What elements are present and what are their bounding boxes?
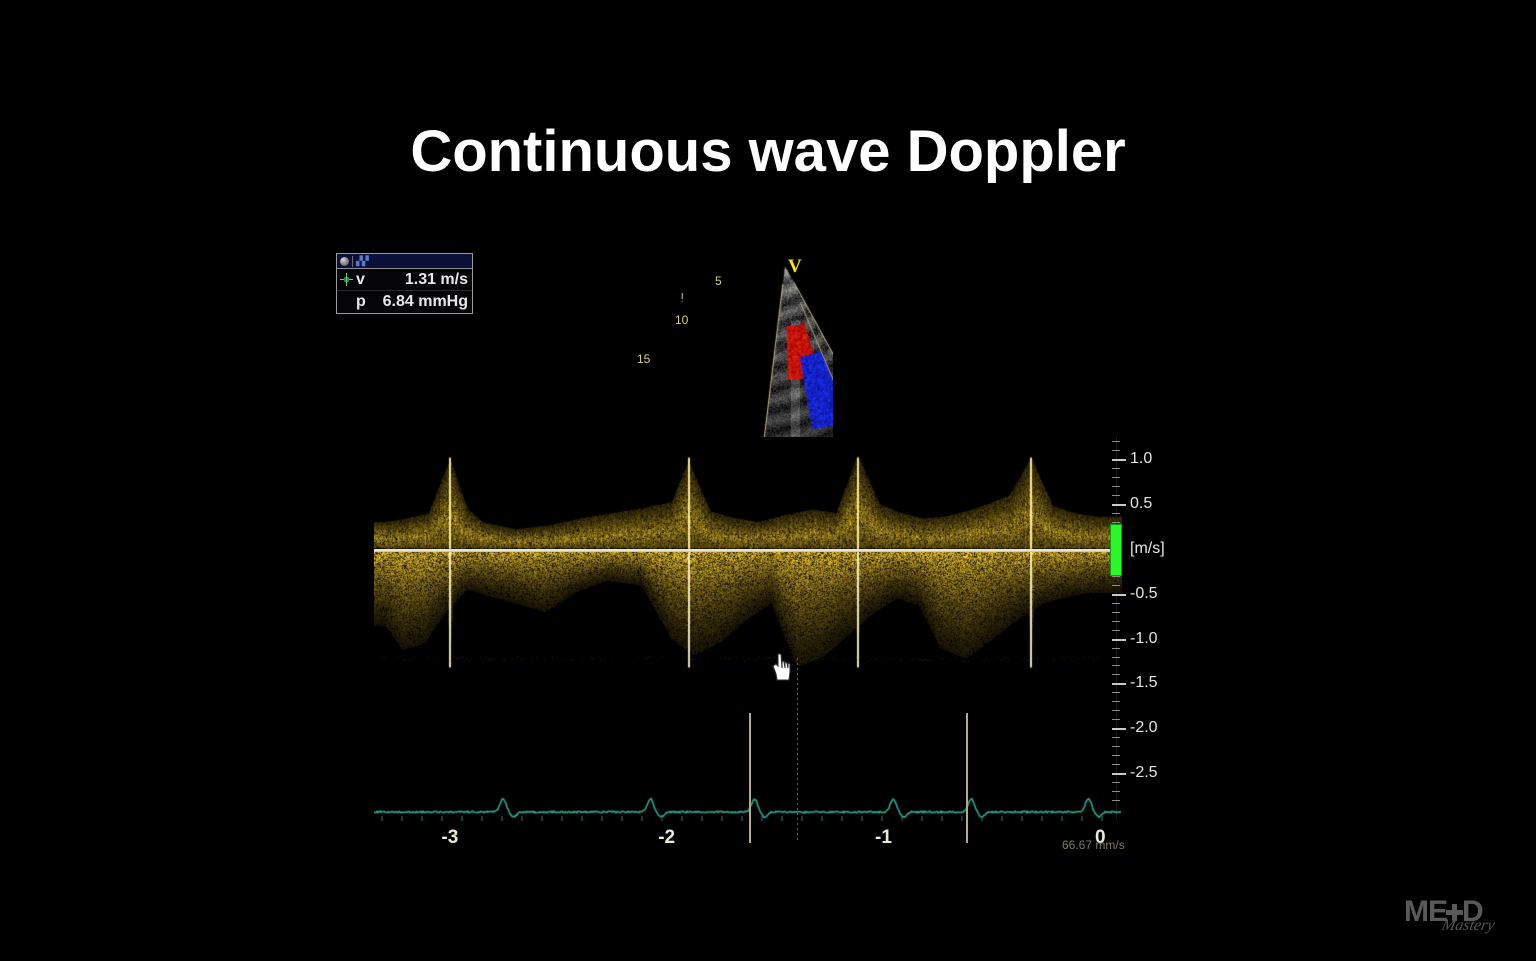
velocity-tick-minor: [1112, 576, 1120, 577]
measurement-label-v: v: [356, 271, 371, 289]
pointing-hand-cursor-icon: [770, 652, 794, 682]
depth-marker-15: 15: [637, 352, 650, 366]
measurement-row-pressure: p 6.84 mmHg: [337, 291, 472, 313]
time-axis: -3-2-10 66.67 mm/s: [374, 818, 1134, 858]
velocity-tick-minor: [1112, 603, 1120, 604]
velocity-tick-minor: [1112, 450, 1120, 451]
spectral-doppler-display[interactable]: [374, 437, 1122, 819]
velocity-tick-major: [1112, 504, 1126, 506]
velocity-tick-minor: [1112, 665, 1120, 666]
caliper-crosshair-icon: [340, 273, 353, 286]
depth-marker-10: 10: [675, 313, 688, 327]
watermark-text-left: ME: [1404, 895, 1447, 929]
velocity-tick-major: [1112, 639, 1126, 641]
velocity-tick-minor: [1112, 612, 1120, 613]
time-label-neg3: -3: [441, 827, 458, 849]
velocity-tick-major: [1112, 594, 1126, 596]
velocity-unit-label: [m/s]: [1130, 540, 1165, 558]
measurement-panel-titlebar[interactable]: ▞▞: [337, 254, 472, 269]
velocity-tick-minor: [1112, 710, 1120, 711]
velocity-tick-minor: [1112, 657, 1120, 658]
velocity-tick-minor: [1112, 477, 1120, 478]
time-label-neg2: -2: [658, 827, 675, 849]
velocity-tick-minor: [1112, 648, 1120, 649]
zero-baseline: [374, 549, 1122, 552]
velocity-tick-minor: [1112, 513, 1120, 514]
page-title: Continuous wave Doppler: [0, 118, 1536, 185]
sweep-speed-label: 66.67 mm/s: [1062, 838, 1125, 852]
velocity-tick-minor: [1112, 486, 1120, 487]
velocity-tick-minor: [1112, 621, 1120, 622]
velocity-tick-minor: [1112, 764, 1120, 765]
slide-canvas: Continuous wave Doppler ▞▞ v 1.31 m/s p …: [0, 0, 1536, 961]
velocity-tick-minor: [1112, 674, 1120, 675]
dotted-reference-line: [797, 658, 798, 843]
velocity-tick-minor: [1112, 630, 1120, 631]
velocity-tick-major: [1112, 728, 1126, 730]
velocity-tick-major: [1112, 773, 1126, 775]
velocity-tick-minor: [1112, 701, 1120, 702]
velocity-label-0neg5: 0.5: [1130, 495, 1152, 513]
velocity-tick-minor: [1112, 522, 1120, 523]
velocity-label-neg1-0: -1.0: [1130, 630, 1158, 648]
modality-label-v: V: [788, 256, 802, 278]
velocity-label-neg2-0: -2.0: [1130, 719, 1158, 737]
velocity-tick-minor: [1112, 737, 1120, 738]
spectral-doppler-canvas: [374, 437, 1122, 819]
velocity-tick-minor: [1112, 782, 1120, 783]
velocity-tick-minor: [1112, 746, 1120, 747]
echo-sector-canvas: [633, 252, 833, 440]
velocity-tick-minor: [1112, 692, 1120, 693]
velocity-tick-minor: [1112, 719, 1120, 720]
echo-2d-image[interactable]: 5 10 15 ᴉ V: [633, 252, 833, 440]
velocity-tick-minor: [1112, 441, 1120, 442]
watermark-script-text: Mastery: [1440, 917, 1496, 935]
depth-arc-tick-icon: ᴉ: [681, 290, 683, 302]
measurement-label-p: p: [356, 293, 371, 311]
velocity-tick-minor: [1112, 585, 1120, 586]
velocity-scale[interactable]: 1.00.5-0.5-1.0-1.5-2.0-2.5 [m/s]: [1108, 437, 1178, 837]
baseline-position-marker[interactable]: [1110, 524, 1122, 576]
measurement-value-v: 1.31 m/s: [371, 271, 468, 289]
velocity-tick-major: [1112, 459, 1126, 461]
measurement-row-velocity: v 1.31 m/s: [337, 269, 472, 291]
measurement-panel[interactable]: ▞▞ v 1.31 m/s p 6.84 mmHg: [336, 253, 473, 314]
velocity-tick-minor: [1112, 495, 1120, 496]
velocity-tick-minor: [1112, 755, 1120, 756]
velocity-label-1neg0: 1.0: [1130, 450, 1152, 468]
watermark-logo: ME D Mastery: [1404, 895, 1524, 947]
measurement-tool-icon: ▞▞: [356, 257, 368, 266]
measurement-value-p: 6.84 mmHg: [371, 293, 468, 311]
velocity-label-neg0-5: -0.5: [1130, 585, 1158, 603]
beat-marker-line: [966, 713, 968, 843]
velocity-tick-major: [1112, 683, 1126, 685]
beat-marker-line: [749, 713, 751, 843]
velocity-label-neg2-5: -2.5: [1130, 764, 1158, 782]
divider: [352, 256, 353, 267]
velocity-tick-minor: [1112, 468, 1120, 469]
sphere-icon: [340, 257, 349, 266]
depth-marker-5: 5: [715, 274, 722, 288]
time-label-neg1: -1: [875, 827, 892, 849]
velocity-label-neg1-5: -1.5: [1130, 674, 1158, 692]
